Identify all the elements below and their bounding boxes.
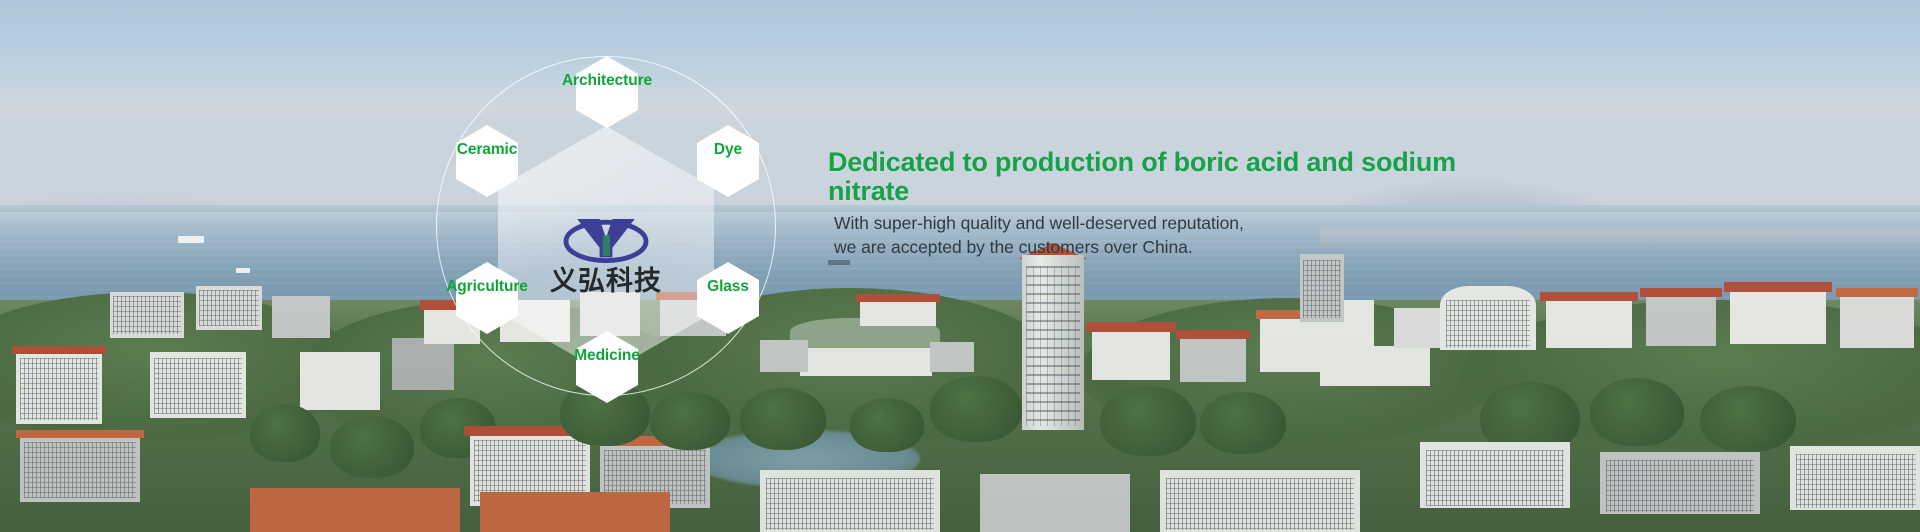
subcopy-line-1: With super-high quality and well-deserve… <box>834 212 1528 235</box>
hex-label-architecture[interactable]: Architecture <box>501 72 713 90</box>
y-in-oval-logo-icon <box>558 206 654 264</box>
hex-label-ceramic[interactable]: Ceramic <box>401 141 573 159</box>
hero-banner: 义弘科技 Architecture Dye Glass Medicine Agr… <box>0 0 1920 532</box>
subcopy: With super-high quality and well-deserve… <box>828 212 1528 259</box>
photo-overlay <box>0 0 1920 532</box>
hex-label-agriculture[interactable]: Agriculture <box>391 278 583 296</box>
headline: Dedicated to production of boric acid an… <box>828 148 1528 206</box>
applications-hex-diagram: 义弘科技 Architecture Dye Glass Medicine Agr… <box>380 28 860 488</box>
subcopy-line-2: we are accepted by the customers over Ch… <box>834 236 1528 259</box>
background-photo <box>0 0 1920 532</box>
hero-copy: Dedicated to production of boric acid an… <box>828 148 1528 259</box>
hex-label-glass[interactable]: Glass <box>642 278 814 296</box>
hex-label-medicine[interactable]: Medicine <box>511 347 703 365</box>
hex-label-dye[interactable]: Dye <box>642 141 814 159</box>
